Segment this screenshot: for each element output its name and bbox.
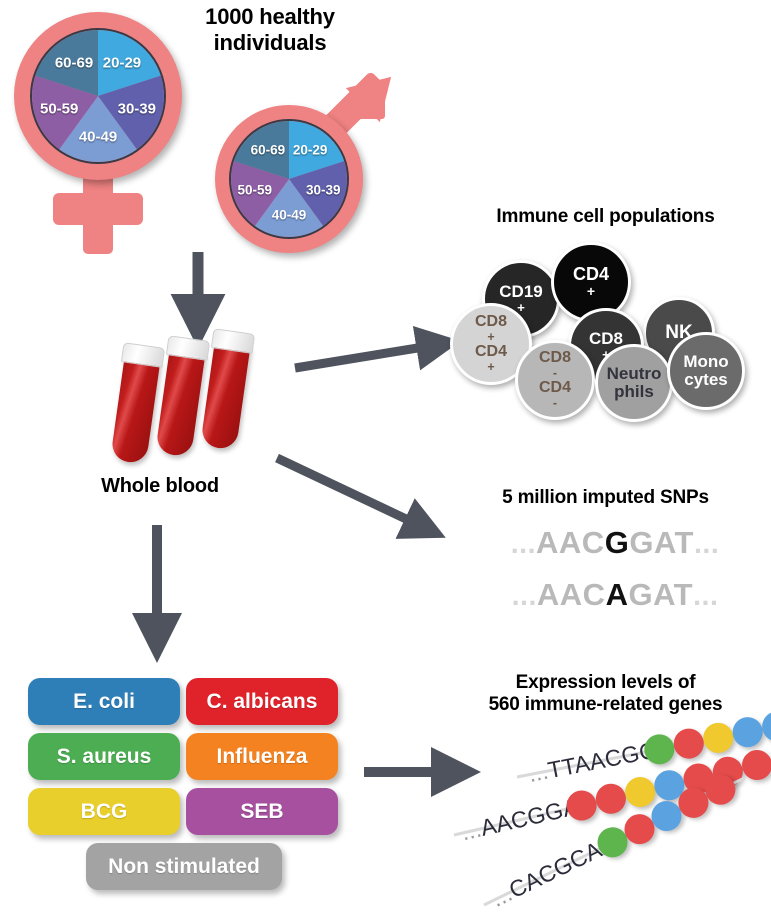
title-immune-cell-populations: Immune cell populations <box>440 206 771 228</box>
snp-ellipsis-right: ... <box>693 580 718 612</box>
title-expression-levels: Expression levels of 560 immune-related … <box>440 672 771 716</box>
stimulus-seb[interactable]: SEB <box>186 788 338 835</box>
snp-ellipsis-right: ... <box>694 528 719 560</box>
snp-variant-base: A <box>606 577 629 612</box>
snp-bases-after: GAT <box>628 577 693 612</box>
snp-ellipsis-left: ... <box>512 580 537 612</box>
snp-bases-before: AAC <box>536 525 605 560</box>
snp-bases-after: GAT <box>629 525 694 560</box>
immune-cell-cd8cd4neg: CD8-CD4- <box>515 340 595 420</box>
immune-cell-label: CD8+CD4+ <box>475 314 507 374</box>
immune-cell-cluster: CD19+CD4+NKCD8+CD8+CD4+CD8-CD4-Neutrophi… <box>455 240 771 425</box>
title-expression-line2: 560 immune-related genes <box>440 694 771 716</box>
snp-bases-before: AAC <box>537 577 606 612</box>
snp-variant-base: G <box>605 525 630 560</box>
superscript: + <box>573 284 609 299</box>
title-imputed-snps: 5 million imputed SNPs <box>440 487 771 509</box>
immune-cell-neutrophils: Neutrophils <box>595 344 673 422</box>
stimulus-s-aureus[interactable]: S. aureus <box>28 733 180 780</box>
stimulation-conditions: E. coliC. albicansS. aureusInfluenzaBCGS… <box>28 678 348 898</box>
stimulus-influenza[interactable]: Influenza <box>186 733 338 780</box>
stimulus-bcg[interactable]: BCG <box>28 788 180 835</box>
snp-sequence-line: ...AACAGAT... <box>470 577 760 613</box>
figure-canvas: 1000 healthy individuals 20-2930-3940-49… <box>0 0 771 922</box>
immune-cell-label: Neutrophils <box>607 365 662 401</box>
dna-bead <box>671 726 706 761</box>
immune-cell-label: Monocytes <box>683 353 728 389</box>
stimulus-e-coli[interactable]: E. coli <box>28 678 180 725</box>
label-whole-blood: Whole blood <box>60 475 260 498</box>
stimulus-c-albicans[interactable]: C. albicans <box>186 678 338 725</box>
stimulus-non-stimulated[interactable]: Non stimulated <box>86 843 282 890</box>
superscript: + <box>475 361 507 374</box>
snp-ellipsis-left: ... <box>511 528 536 560</box>
dna-strands: ...TTAACGG...AACGGAT...CACGCAA <box>440 720 771 920</box>
immune-cell-label: CD4+ <box>573 265 609 299</box>
blood-tube <box>110 343 162 465</box>
dna-bead <box>730 715 765 750</box>
title-expression-line1: Expression levels of <box>440 672 771 694</box>
blood-tube-body <box>110 355 160 465</box>
snp-sequences: ...AACGGAT......AACAGAT... <box>470 525 760 620</box>
blood-tubes <box>110 330 280 470</box>
snp-sequence-line: ...AACGGAT... <box>470 525 760 561</box>
arrow-to-cells <box>295 345 436 368</box>
superscript: - <box>539 397 571 410</box>
immune-cell-monocytes: Monocytes <box>667 332 745 410</box>
dna-bead <box>593 781 629 817</box>
immune-cell-label: CD8-CD4- <box>539 350 571 410</box>
arrow-to-snps <box>277 458 423 527</box>
dna-bead <box>701 720 736 755</box>
